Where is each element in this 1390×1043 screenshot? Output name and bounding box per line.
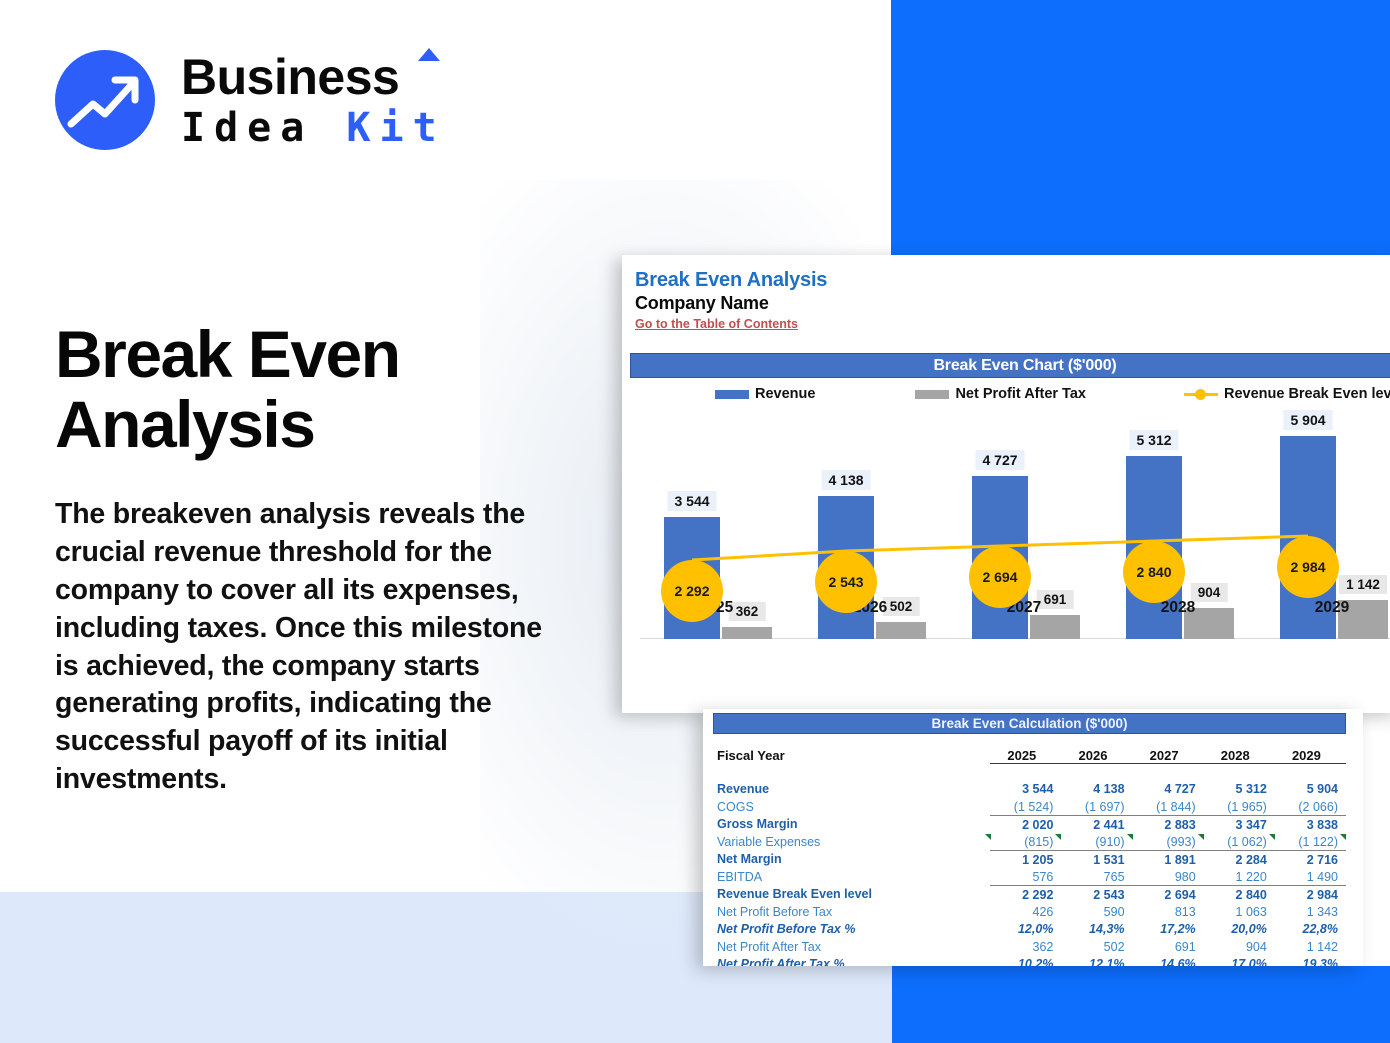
table-cell: 14,6% bbox=[1133, 956, 1204, 967]
table-row-label: Revenue Break Even level bbox=[713, 886, 990, 904]
table-cell: (910) bbox=[1061, 833, 1132, 851]
brand-circumflex-icon bbox=[418, 48, 440, 61]
table-cell: 2 883 bbox=[1133, 816, 1204, 834]
break-even-marker-2026[interactable]: 2 543 bbox=[815, 551, 877, 613]
table-cell: 904 bbox=[1204, 938, 1275, 956]
table-title-band: Break Even Calculation ($'000) bbox=[713, 713, 1346, 734]
table-cell: 2 543 bbox=[1061, 886, 1132, 904]
table-cell: 3 544 bbox=[990, 781, 1061, 799]
table-cell: 813 bbox=[1133, 903, 1204, 921]
table-row-label: Net Profit Before Tax % bbox=[713, 921, 990, 939]
table-cell: 576 bbox=[990, 868, 1061, 886]
table-header-year-2029: 2029 bbox=[1275, 738, 1346, 763]
table-cell: 362 bbox=[990, 938, 1061, 956]
table-cell: (1 965) bbox=[1204, 798, 1275, 816]
table-cell: 2 292 bbox=[990, 886, 1061, 904]
table-cell: 691 bbox=[1133, 938, 1204, 956]
table-cell: 3 347 bbox=[1204, 816, 1275, 834]
table-row: Revenue3 5444 1384 7275 3125 904 bbox=[713, 781, 1346, 799]
table-cell: (1 697) bbox=[1061, 798, 1132, 816]
legend-label-npat: Net Profit After Tax bbox=[955, 386, 1086, 402]
table-cell: 1 142 bbox=[1275, 938, 1346, 956]
brand-logo: Business Idea Kit bbox=[55, 48, 455, 156]
decorative-blue-block-bottom bbox=[892, 966, 1390, 1043]
table-row-label: Revenue bbox=[713, 781, 990, 799]
table-cell: 5 904 bbox=[1275, 781, 1346, 799]
table-cell: 5 312 bbox=[1204, 781, 1275, 799]
table-cell: 10,2% bbox=[990, 956, 1061, 967]
legend-swatch-npat-icon bbox=[915, 390, 949, 399]
table-row-label: Net Profit After Tax % bbox=[713, 956, 990, 967]
break-even-marker-2025[interactable]: 2 292 bbox=[661, 560, 723, 622]
legend-swatch-breakeven-line-icon bbox=[1184, 389, 1218, 399]
chart-legend: Revenue Net Profit After Tax Revenue Bre… bbox=[630, 381, 1390, 407]
table-cell: 1 891 bbox=[1133, 851, 1204, 869]
table-row: Variable Expenses(815)(910)(993)(1 062)(… bbox=[713, 833, 1346, 851]
table-of-contents-link[interactable]: Go to the Table of Contents bbox=[635, 317, 798, 331]
table-row: Gross Margin2 0202 4412 8833 3473 838 bbox=[713, 816, 1346, 834]
table-cell: 1 490 bbox=[1275, 868, 1346, 886]
table-cell: 3 838 bbox=[1275, 816, 1346, 834]
table-cell: (1 524) bbox=[990, 798, 1061, 816]
table-header-row: Fiscal Year20252026202720282029 bbox=[713, 738, 1346, 763]
cell-comment-flag-icon bbox=[1340, 834, 1346, 840]
decorative-blue-block-top bbox=[891, 0, 1390, 262]
break-even-marker-2027[interactable]: 2 694 bbox=[969, 546, 1031, 608]
table-cell: 17,2% bbox=[1133, 921, 1204, 939]
break-even-calculation-card: Break Even Calculation ($'000) Fiscal Ye… bbox=[703, 709, 1363, 966]
table-row-label: Variable Expenses bbox=[713, 833, 990, 851]
table-cell: 980 bbox=[1133, 868, 1204, 886]
table-cell: (1 844) bbox=[1133, 798, 1204, 816]
table-cell: 2 716 bbox=[1275, 851, 1346, 869]
table-cell: 4 727 bbox=[1133, 781, 1204, 799]
table-cell: 12,0% bbox=[990, 921, 1061, 939]
table-cell: 20,0% bbox=[1204, 921, 1275, 939]
table-cell: 426 bbox=[990, 903, 1061, 921]
break-even-chart-card: Break Even Analysis Company Name Go to t… bbox=[622, 255, 1390, 713]
table-row-label: EBITDA bbox=[713, 868, 990, 886]
table-cell: 2 284 bbox=[1204, 851, 1275, 869]
table-cell: (993) bbox=[1133, 833, 1204, 851]
table-row: Net Profit Before Tax %12,0%14,3%17,2%20… bbox=[713, 921, 1346, 939]
table-header-year-2025: 2025 bbox=[990, 738, 1061, 763]
page-body-text: The breakeven analysis reveals the cruci… bbox=[55, 496, 545, 799]
table-cell: (815) bbox=[990, 833, 1061, 851]
break-even-marker-2028[interactable]: 2 840 bbox=[1123, 541, 1185, 603]
table-row-label: COGS bbox=[713, 798, 990, 816]
table-cell: 2 840 bbox=[1204, 886, 1275, 904]
table-row: Revenue Break Even level2 2922 5432 6942… bbox=[713, 886, 1346, 904]
legend-label-breakeven: Revenue Break Even level bbox=[1224, 386, 1390, 402]
sheet-title: Break Even Analysis bbox=[635, 269, 827, 292]
legend-item-break-even-level[interactable]: Revenue Break Even level bbox=[1184, 386, 1390, 402]
page-title: Break Even Analysis bbox=[55, 320, 525, 460]
legend-item-net-profit-after-tax[interactable]: Net Profit After Tax bbox=[915, 386, 1086, 402]
table-cell: 2 441 bbox=[1061, 816, 1132, 834]
table-row: Net Profit After Tax %10,2%12,1%14,6%17,… bbox=[713, 956, 1346, 967]
table-header-year-2026: 2026 bbox=[1061, 738, 1132, 763]
table-row-label: Net Margin bbox=[713, 851, 990, 869]
table-row: EBITDA5767659801 2201 490 bbox=[713, 868, 1346, 886]
table-cell: (1 122) bbox=[1275, 833, 1346, 851]
table-row: Net Margin1 2051 5311 8912 2842 716 bbox=[713, 851, 1346, 869]
table-cell: (2 066) bbox=[1275, 798, 1346, 816]
table-cell: 22,8% bbox=[1275, 921, 1346, 939]
table-cell: 4 138 bbox=[1061, 781, 1132, 799]
table-cell: 1 063 bbox=[1204, 903, 1275, 921]
table-header-fiscal-year: Fiscal Year bbox=[713, 738, 990, 763]
legend-item-revenue[interactable]: Revenue bbox=[715, 386, 815, 402]
table-cell: 1 531 bbox=[1061, 851, 1132, 869]
table-cell: 2 020 bbox=[990, 816, 1061, 834]
brand-name-idea: Idea bbox=[181, 105, 313, 151]
table-row: Net Profit After Tax3625026919041 142 bbox=[713, 938, 1346, 956]
table-cell: 1 220 bbox=[1204, 868, 1275, 886]
chart-plot-area: 3 5443622 29220254 1385022 54320264 7276… bbox=[630, 411, 1390, 711]
slide-canvas: Business Idea Kit Break Even Analysis Th… bbox=[0, 0, 1390, 1043]
table-cell: 1 343 bbox=[1275, 903, 1346, 921]
growth-arrow-icon bbox=[55, 50, 155, 150]
break-even-marker-2029[interactable]: 2 984 bbox=[1277, 536, 1339, 598]
table-row: Net Profit Before Tax4265908131 0631 343 bbox=[713, 903, 1346, 921]
table-row-label: Gross Margin bbox=[713, 816, 990, 834]
table-row-label: Net Profit Before Tax bbox=[713, 903, 990, 921]
table-cell: 590 bbox=[1061, 903, 1132, 921]
table-cell: 2 984 bbox=[1275, 886, 1346, 904]
table-row: COGS(1 524)(1 697)(1 844)(1 965)(2 066) bbox=[713, 798, 1346, 816]
chart-title-band: Break Even Chart ($'000) bbox=[630, 353, 1390, 378]
table-cell: 765 bbox=[1061, 868, 1132, 886]
table-cell: 502 bbox=[1061, 938, 1132, 956]
sheet-subtitle: Company Name bbox=[635, 293, 769, 314]
legend-swatch-revenue-icon bbox=[715, 390, 749, 399]
table-header-year-2027: 2027 bbox=[1133, 738, 1204, 763]
brand-name-line1: Business bbox=[181, 49, 399, 105]
table-cell: 1 205 bbox=[990, 851, 1061, 869]
table-cell: 2 694 bbox=[1133, 886, 1204, 904]
cell-comment-flag-icon bbox=[985, 834, 991, 840]
table-cell: 17,0% bbox=[1204, 956, 1275, 967]
table-cell: 12,1% bbox=[1061, 956, 1132, 967]
table-cell: 19,3% bbox=[1275, 956, 1346, 967]
brand-name-kit: Kit bbox=[346, 105, 445, 151]
table-header-year-2028: 2028 bbox=[1204, 738, 1275, 763]
table-cell: (1 062) bbox=[1204, 833, 1275, 851]
break-even-table: Fiscal Year20252026202720282029Revenue3 … bbox=[713, 738, 1346, 966]
table-row-label: Net Profit After Tax bbox=[713, 938, 990, 956]
table-spacer-row bbox=[713, 763, 1346, 781]
table-cell: 14,3% bbox=[1061, 921, 1132, 939]
legend-label-revenue: Revenue bbox=[755, 386, 815, 402]
